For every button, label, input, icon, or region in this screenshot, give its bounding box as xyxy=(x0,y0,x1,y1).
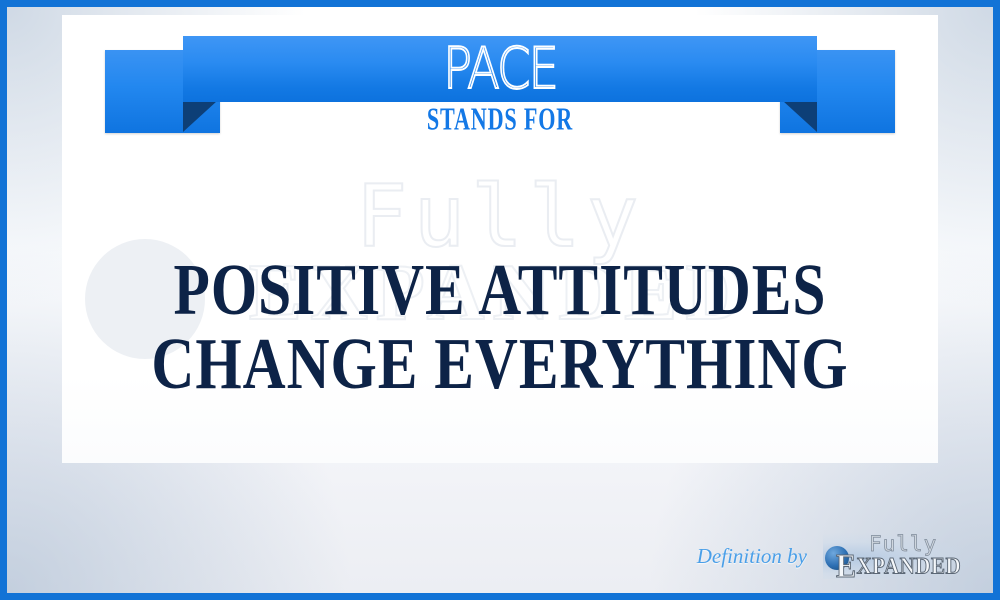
page-frame: Fully EXPANDED PACE STANDS FOR POSITIVE … xyxy=(0,0,1000,600)
fully-expanded-logo[interactable]: Fully EXPANDED xyxy=(823,533,975,579)
definition-line-1: POSITIVE ATTITUDES xyxy=(84,254,915,329)
acronym-title: PACE xyxy=(443,41,557,98)
ribbon-band: PACE xyxy=(183,36,817,102)
logo-bottom-rest: XPANDED xyxy=(857,552,962,579)
logo-bottom-word: EXPANDED xyxy=(836,550,961,584)
definition-line-2: CHANGE EVERYTHING xyxy=(84,328,915,403)
page-canvas: Fully EXPANDED PACE STANDS FOR POSITIVE … xyxy=(7,7,993,593)
logo-bottom-initial: E xyxy=(836,548,857,585)
stands-for-label: STANDS FOR xyxy=(96,101,905,138)
definition-text: POSITIVE ATTITUDES CHANGE EVERYTHING xyxy=(84,254,915,403)
credit-label: Definition by xyxy=(697,544,807,569)
ribbon-header: PACE STANDS FOR xyxy=(7,22,993,142)
footer: Definition by Fully EXPANDED xyxy=(697,533,975,579)
